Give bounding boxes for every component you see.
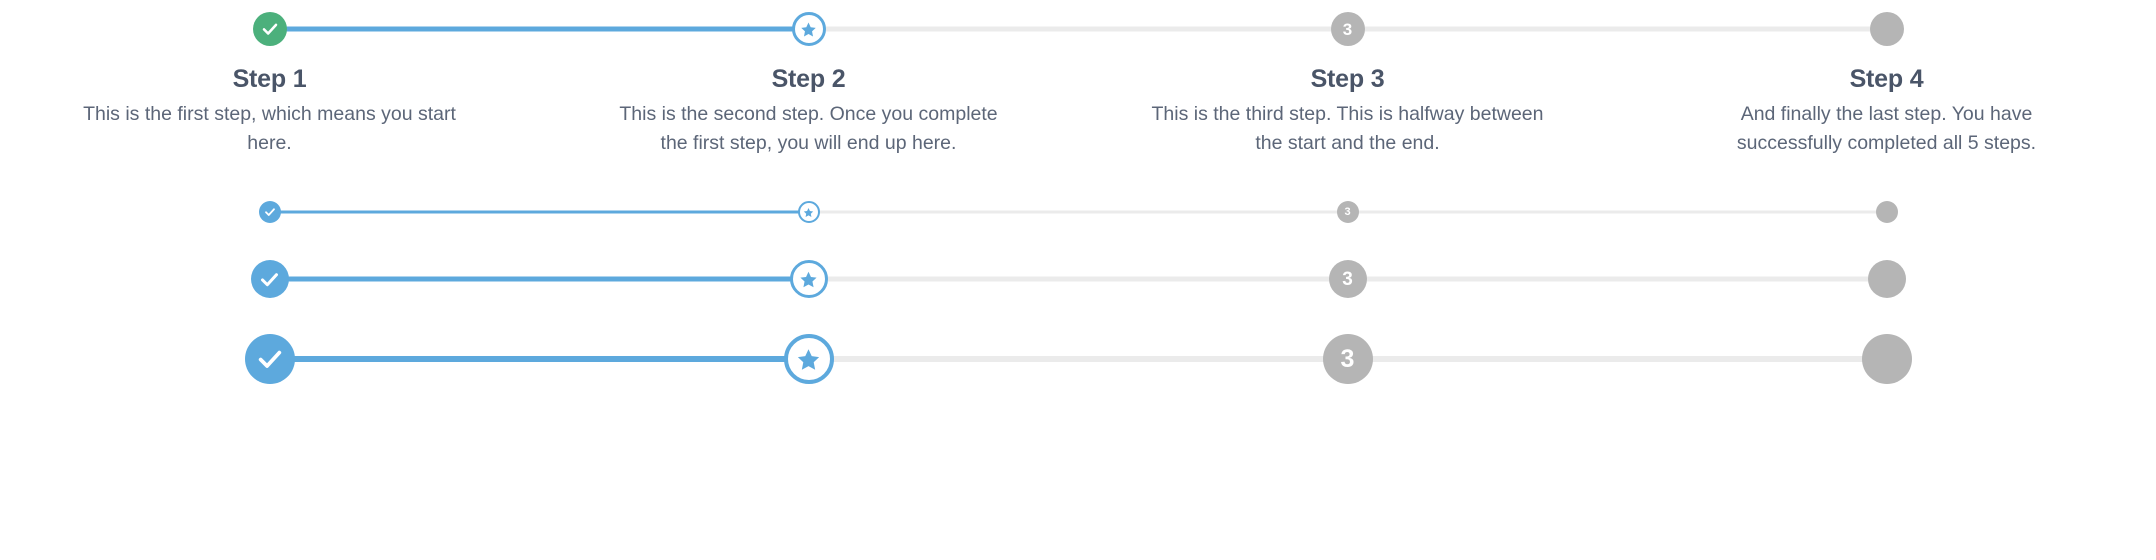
step-marker-pending-4[interactable]: [1868, 260, 1906, 298]
check-icon: [259, 269, 280, 290]
star-icon: [799, 270, 818, 289]
step-marker-current-2[interactable]: [792, 12, 826, 46]
step-item-3[interactable]: 3: [1078, 250, 1617, 308]
step-number-3: 3: [1343, 21, 1352, 38]
rail-segment-left: [539, 277, 809, 282]
step-rail-1: [0, 324, 539, 394]
rail-segment-left: [1617, 211, 1887, 214]
step-item-4[interactable]: Step 4 And finally the last step. You ha…: [1617, 0, 2156, 157]
step-item-2[interactable]: [539, 192, 1078, 232]
rail-segment-right: [270, 356, 540, 362]
step-marker-pending-4[interactable]: [1870, 12, 1904, 46]
step-description-3: This is the third step. This is halfway …: [1152, 100, 1544, 157]
step-rail-1: [0, 250, 539, 308]
step-title-1: Step 1: [74, 64, 466, 95]
step-marker-pending-3[interactable]: 3: [1337, 201, 1359, 223]
step-marker-complete-1[interactable]: [251, 260, 289, 298]
step-item-4[interactable]: [1617, 192, 2156, 232]
step-title-3: Step 3: [1152, 64, 1544, 95]
check-icon: [256, 345, 284, 373]
check-icon: [261, 20, 279, 38]
step-item-4[interactable]: [1617, 324, 2156, 394]
step-number-3: 3: [1341, 347, 1355, 372]
check-icon: [264, 206, 276, 218]
rail-segment-right: [1348, 277, 1618, 282]
rail-segment-right: [809, 27, 1079, 32]
rail-segment-left: [1078, 356, 1348, 362]
star-icon: [800, 21, 817, 38]
step-rail-1: [0, 192, 539, 232]
step-marker-complete-1[interactable]: [253, 12, 287, 46]
step-rail-3: 3: [1078, 250, 1617, 308]
step-description-2: This is the second step. Once you comple…: [613, 100, 1005, 157]
step-item-1[interactable]: Step 1 This is the first step, which mea…: [0, 0, 539, 157]
step-rail-2: [539, 192, 1078, 232]
step-title-2: Step 2: [613, 64, 1005, 95]
stepper-row-large: 3: [0, 324, 2156, 394]
step-label-3: Step 3 This is the third step. This is h…: [1138, 64, 1558, 157]
rail-segment-left: [1617, 277, 1887, 282]
step-rail-3: 3: [1078, 324, 1617, 394]
rail-segment-right: [1348, 356, 1618, 362]
step-item-1[interactable]: [0, 324, 539, 394]
step-label-2: Step 2 This is the second step. Once you…: [599, 64, 1019, 157]
stepper-demo-page: Step 1 This is the first step, which mea…: [0, 0, 2156, 560]
step-label-4: Step 4 And finally the last step. You ha…: [1677, 64, 2097, 157]
rail-segment-left: [539, 211, 809, 214]
rail-segment-left: [1078, 277, 1348, 282]
step-description-1: This is the first step, which means you …: [74, 100, 466, 157]
rail-segment-right: [809, 211, 1079, 214]
rail-segment-right: [809, 356, 1079, 362]
step-item-2[interactable]: [539, 324, 1078, 394]
step-rail-4: [1617, 0, 2156, 58]
step-description-4: And finally the last step. You have succ…: [1691, 100, 2083, 157]
step-item-2[interactable]: [539, 250, 1078, 308]
step-marker-pending-4[interactable]: [1862, 334, 1912, 384]
step-rail-4: [1617, 324, 2156, 394]
step-marker-complete-1[interactable]: [259, 201, 281, 223]
step-item-3[interactable]: 3: [1078, 192, 1617, 232]
step-rail-2: [539, 250, 1078, 308]
step-item-3[interactable]: 3 Step 3 This is the third step. This is…: [1078, 0, 1617, 157]
step-marker-pending-4[interactable]: [1876, 201, 1898, 223]
step-item-4[interactable]: [1617, 250, 2156, 308]
step-rail-1: [0, 0, 539, 58]
stepper-row-medium: 3: [0, 250, 2156, 308]
rail-segment-right: [270, 211, 540, 214]
step-marker-current-2[interactable]: [784, 334, 834, 384]
step-number-3: 3: [1344, 207, 1350, 218]
step-marker-current-2[interactable]: [798, 201, 820, 223]
step-rail-4: [1617, 250, 2156, 308]
step-marker-current-2[interactable]: [790, 260, 828, 298]
step-marker-complete-1[interactable]: [245, 334, 295, 384]
step-rail-3: 3: [1078, 0, 1617, 58]
rail-segment-left: [1078, 27, 1348, 32]
step-item-3[interactable]: 3: [1078, 324, 1617, 394]
star-icon: [796, 347, 821, 372]
rail-segment-right: [809, 277, 1079, 282]
step-item-1[interactable]: [0, 192, 539, 232]
stepper-row-xl: Step 1 This is the first step, which mea…: [0, 0, 2156, 157]
rail-segment-right: [1348, 27, 1618, 32]
step-marker-pending-3[interactable]: 3: [1331, 12, 1365, 46]
rail-segment-left: [1617, 356, 1887, 362]
step-rail-4: [1617, 192, 2156, 232]
rail-segment-right: [270, 277, 540, 282]
rail-segment-left: [1617, 27, 1887, 32]
step-rail-2: [539, 0, 1078, 58]
rail-segment-left: [539, 356, 809, 362]
step-label-1: Step 1 This is the first step, which mea…: [60, 64, 480, 157]
rail-segment-right: [1348, 211, 1618, 214]
rail-segment-right: [270, 27, 540, 32]
step-item-1[interactable]: [0, 250, 539, 308]
step-item-2[interactable]: Step 2 This is the second step. Once you…: [539, 0, 1078, 157]
step-title-4: Step 4: [1691, 64, 2083, 95]
step-marker-pending-3[interactable]: 3: [1329, 260, 1367, 298]
step-marker-pending-3[interactable]: 3: [1323, 334, 1373, 384]
stepper-row-small: 3: [0, 192, 2156, 232]
step-rail-3: 3: [1078, 192, 1617, 232]
rail-segment-left: [1078, 211, 1348, 214]
star-icon: [803, 207, 814, 218]
step-number-3: 3: [1342, 270, 1353, 289]
rail-segment-left: [539, 27, 809, 32]
step-rail-2: [539, 324, 1078, 394]
